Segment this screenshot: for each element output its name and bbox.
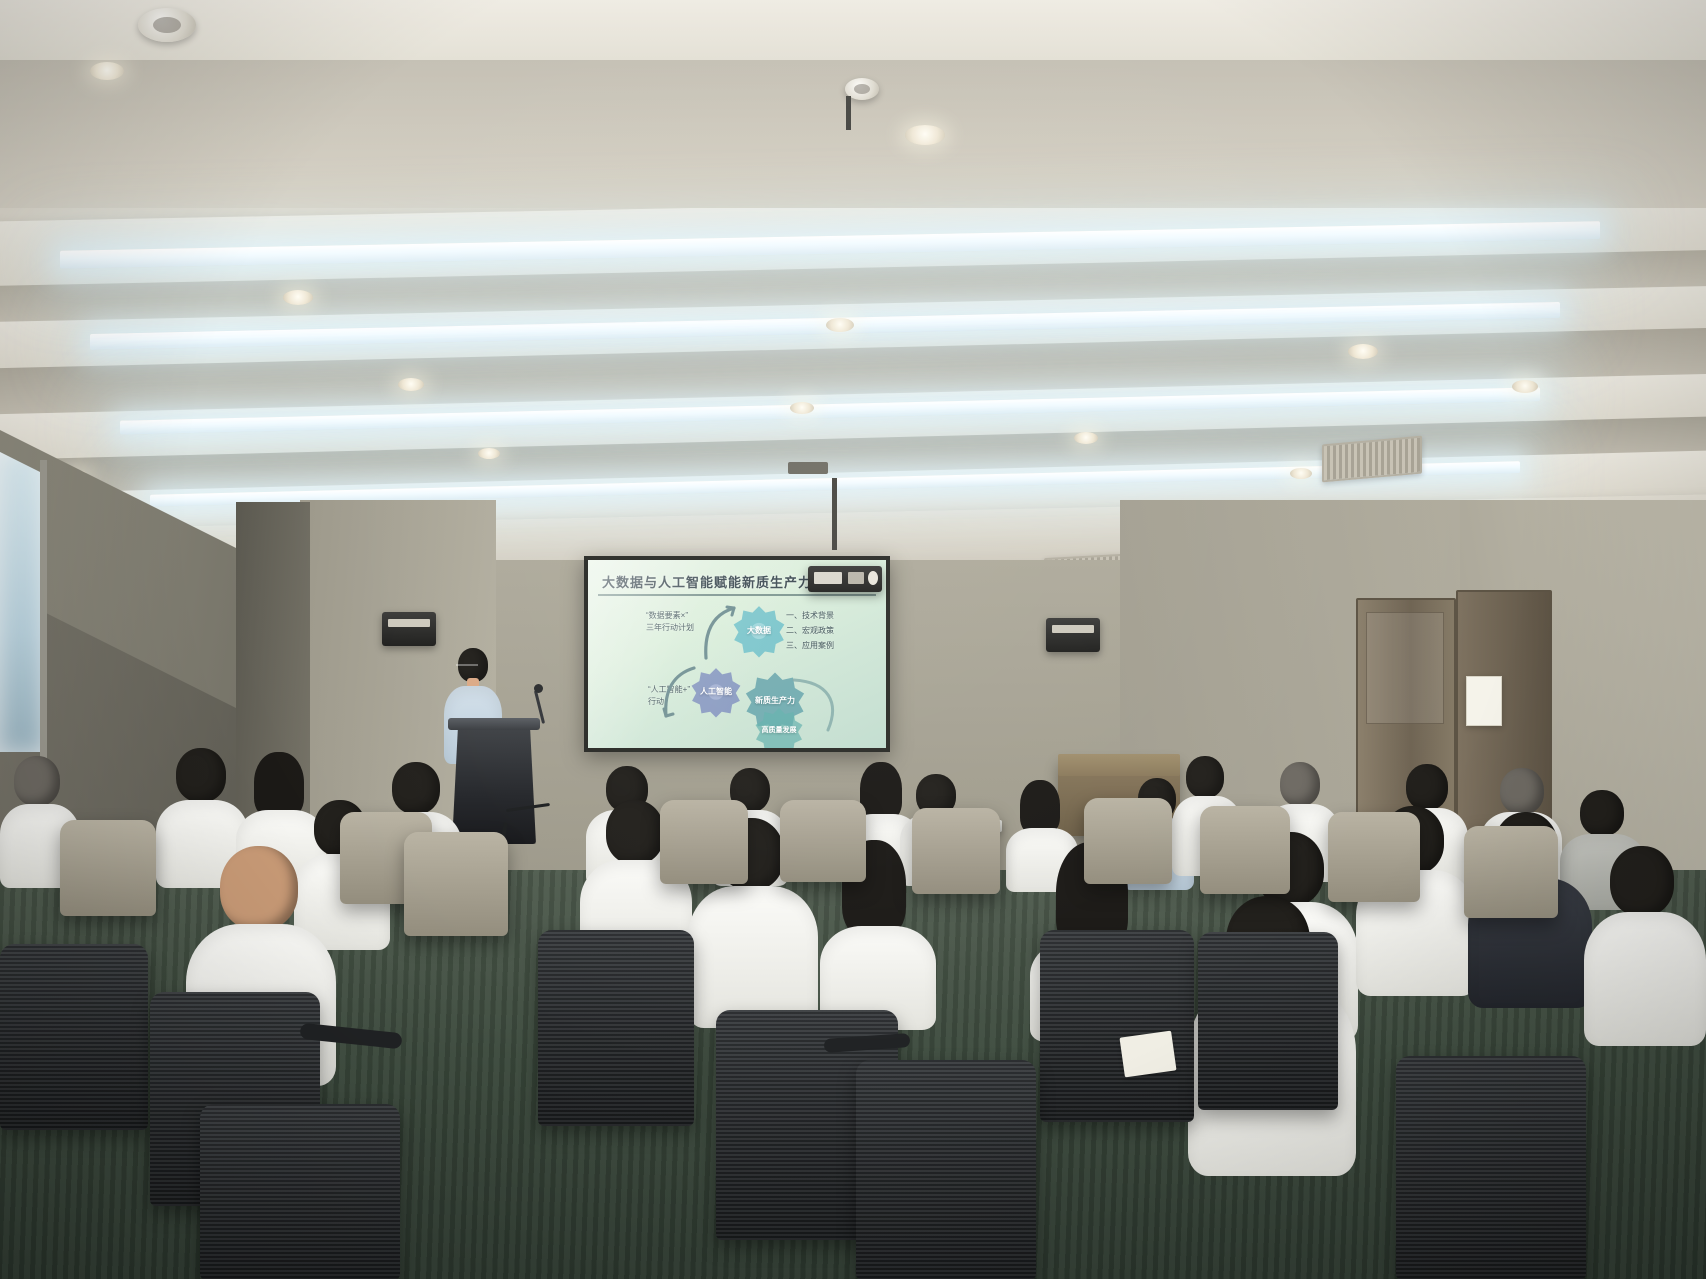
downlight <box>478 448 500 459</box>
conference-chair[interactable] <box>1198 932 1338 1110</box>
note-line: 行动 <box>648 697 664 706</box>
conference-chair[interactable] <box>1328 812 1420 902</box>
conference-chair[interactable] <box>404 832 508 936</box>
podium-microphone <box>534 684 543 693</box>
gear-big-data: 大数据 <box>732 604 786 658</box>
downlight <box>905 125 945 145</box>
slide-note-ai-action: “人工智能+” 行动 <box>648 684 690 708</box>
conference-chair[interactable] <box>1200 806 1290 894</box>
attendee-head <box>606 800 664 864</box>
conference-chair[interactable] <box>1464 826 1558 918</box>
gear-artificial-intelligence: 人工智能 <box>690 666 742 718</box>
attendee-hair <box>1020 780 1060 834</box>
agenda-item: 三、应用案例 <box>786 638 834 653</box>
window-mullion <box>40 460 47 760</box>
note-line: “人工智能+” <box>648 685 690 694</box>
ceiling <box>0 0 1706 560</box>
attendee-head <box>220 846 298 930</box>
attendee-head <box>1610 846 1674 916</box>
conference-chair[interactable] <box>912 808 1000 894</box>
attendee-head <box>392 762 440 814</box>
agenda-item: 二、宏观政策 <box>786 623 834 638</box>
conference-chair[interactable] <box>60 820 156 916</box>
downlight <box>1512 380 1538 393</box>
attendee-head <box>14 756 60 806</box>
conference-chair[interactable] <box>0 944 148 1130</box>
conference-chair[interactable] <box>1084 798 1172 884</box>
conference-chair[interactable] <box>538 930 694 1126</box>
podium-top-surface <box>448 718 540 730</box>
gear-label: 人工智能 <box>700 688 732 697</box>
attendee-torso <box>1584 912 1706 1046</box>
projector-lens <box>868 571 878 585</box>
wall-speaker-left <box>382 612 436 646</box>
downlight <box>1074 432 1098 444</box>
downlight <box>90 62 124 80</box>
downlight <box>1290 468 1312 479</box>
downlight <box>398 378 424 391</box>
conference-chair[interactable] <box>780 800 866 882</box>
table-cloth <box>1058 754 1180 776</box>
attendee-head <box>1280 762 1320 806</box>
downlight <box>826 318 854 332</box>
slide-agenda-list: 一、技术背景 二、宏观政策 三、应用案例 <box>786 608 834 654</box>
smoke-detector <box>138 8 196 42</box>
ceiling-projector <box>808 566 882 592</box>
conference-chair[interactable] <box>200 1104 400 1279</box>
conference-chair[interactable] <box>1396 1056 1586 1279</box>
attendee-head <box>176 748 226 802</box>
gear-label: 大数据 <box>747 627 771 636</box>
slide-note-data-element: “数据要素×” 三年行动计划 <box>646 610 694 634</box>
conference-chair[interactable] <box>856 1060 1036 1279</box>
attendee-head <box>1186 756 1224 798</box>
downlight <box>790 402 814 414</box>
notebook[interactable] <box>1119 1031 1176 1078</box>
conference-chair[interactable] <box>1040 930 1194 1122</box>
wall-poster <box>1466 676 1502 726</box>
projector-ceiling-plate <box>788 462 828 474</box>
note-line: “数据要素×” <box>646 611 688 620</box>
attendee-hair <box>860 762 902 820</box>
attendee-torso <box>688 886 818 1028</box>
attendee-head <box>1500 768 1544 814</box>
conference-room-photo: 大数据与人工智能赋能新质生产力 “数据要素×” 三年行动计划 “人工智能+” 行… <box>0 0 1706 1279</box>
wall-speaker-right <box>1046 618 1100 652</box>
downlight <box>283 290 313 305</box>
projector-panel <box>848 572 864 584</box>
slide-title: 大数据与人工智能赋能新质生产力 <box>602 572 812 591</box>
slide-title-rule <box>598 594 876 596</box>
conference-chair[interactable] <box>660 800 748 884</box>
agenda-item: 一、技术背景 <box>786 608 834 623</box>
projector-drop-pole <box>832 478 837 550</box>
downlight <box>1348 344 1378 359</box>
gear-label: 新质生产力 <box>755 697 795 706</box>
projector-mount-pole <box>846 96 851 130</box>
projector-lens-panel <box>814 572 842 584</box>
attendee-head <box>1406 764 1448 810</box>
window-left <box>0 452 44 752</box>
podium <box>452 726 536 844</box>
note-line: 三年行动计划 <box>646 623 694 632</box>
door-pane <box>1366 612 1444 724</box>
presenter-glasses-icon <box>456 664 478 670</box>
gear-high-quality-development: 高质量发展 <box>754 706 804 748</box>
attendee <box>1584 846 1706 1046</box>
gear-label: 高质量发展 <box>762 727 797 735</box>
